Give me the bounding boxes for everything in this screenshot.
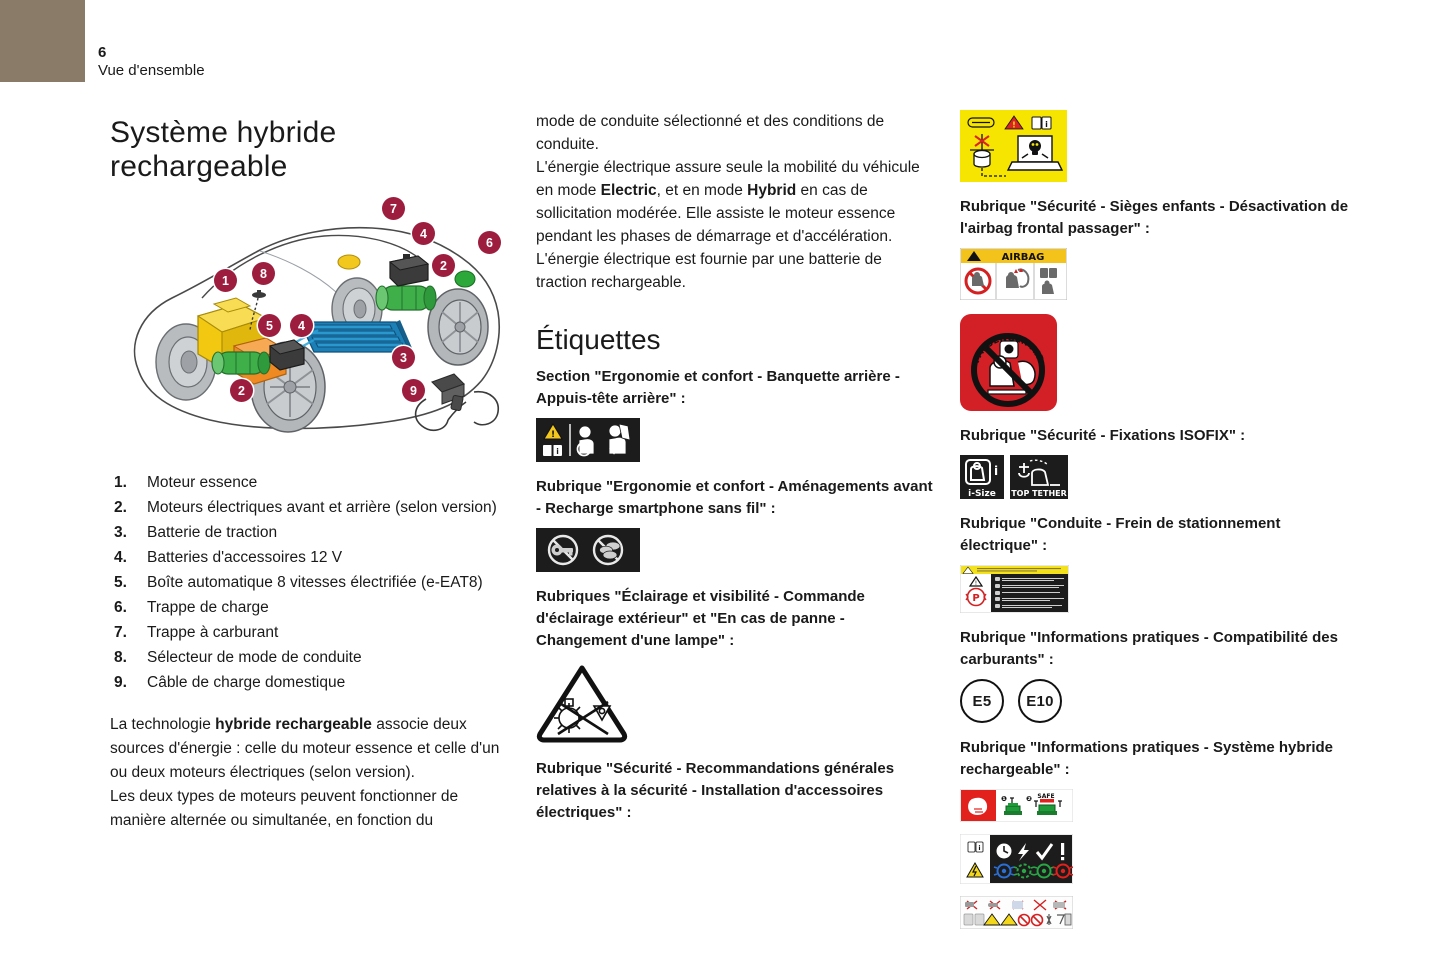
airbag-strip-label: AIRBAG [960, 248, 1067, 300]
svg-text:i: i [994, 464, 998, 478]
diagram-callout-2-front: 2 [230, 379, 253, 402]
list-item-label: Moteur essence [147, 474, 257, 491]
caption-headrest: Section "Ergonomie et confort - Banquett… [536, 366, 936, 410]
high-voltage-indicator-label: i [960, 834, 1073, 884]
plug-in-hybrid-cutaway-diagram: 7 4 6 2 1 8 5 4 2 3 9 [110, 194, 510, 454]
diagram-callout-9: 9 [402, 379, 425, 402]
lamp-uv-warning-triangle-label [536, 660, 632, 744]
list-item-number: 9. [114, 670, 127, 695]
paragraph-continued-2: L'énergie électrique assure seule la mob… [536, 156, 936, 248]
diagram-callout-6: 6 [478, 231, 501, 254]
list-item-label: Batterie de traction [147, 524, 277, 541]
list-item-number: 8. [114, 645, 127, 670]
list-item: 4.Batteries d'accessoires 12 V [110, 545, 510, 570]
list-item: 6.Trappe de charge [110, 595, 510, 620]
svg-text:!: ! [551, 430, 555, 440]
corner-color-band [0, 0, 85, 82]
paragraph-text-b: , et en mode [657, 182, 747, 199]
list-item-number: 4. [114, 545, 127, 570]
list-item-label: Sélecteur de mode de conduite [147, 649, 362, 666]
headrest-warning-label: ! i [536, 418, 640, 462]
fuel-e5-badge: E5 [960, 679, 1004, 723]
page-section-title: Vue d'ensemble [98, 61, 205, 81]
diagram-callout-5: 5 [258, 314, 281, 337]
electric-parking-brake-label: ! P [960, 565, 1069, 613]
mode-electric-term: Electric [601, 182, 657, 199]
component-list: 1.Moteur essence 2.Moteurs électriques a… [110, 470, 510, 695]
no-key-no-coins-label [536, 528, 640, 572]
list-item-label: Câble de charge domestique [147, 674, 345, 691]
list-item-number: 7. [114, 620, 127, 645]
hybrid-rescue-sticker: ❶ ❷ SAFE [960, 789, 1073, 822]
diagram-callout-8: 8 [252, 262, 275, 285]
caption-parking-brake: Rubrique "Conduite - Frein de stationnem… [960, 513, 1360, 557]
page-number: 6 [98, 44, 205, 61]
middle-column: mode de conduite sélectionné et des cond… [536, 110, 936, 832]
isofix-label-row: i i-Size TOP TETHER [960, 455, 1360, 499]
svg-text:❶: ❶ [1001, 795, 1007, 803]
list-item: 7.Trappe à carburant [110, 620, 510, 645]
list-item-label: Moteurs électriques avant et arrière (se… [147, 499, 497, 516]
paragraph-continued-3: L'énergie électrique est fournie par une… [536, 248, 936, 294]
svg-text:i: i [1045, 120, 1048, 129]
top-tether-label: TOP TETHER [1010, 455, 1068, 499]
airbag-strip-text: AIRBAG [1002, 252, 1045, 263]
fuel-compatibility-row: E5 E10 [960, 679, 1360, 723]
page-header: 6 Vue d'ensemble [98, 44, 205, 81]
i-size-label: i i-Size [960, 455, 1004, 499]
paragraph-continued-1: mode de conduite sélectionné et des cond… [536, 110, 936, 156]
yellow-airbag-child-seat-label: ! i [960, 110, 1067, 182]
intro-paragraphs: La technologie hybride rechargeable asso… [110, 713, 510, 833]
safe-text: SAFE [1037, 793, 1054, 800]
diagram-callout-7: 7 [382, 197, 405, 220]
diagram-callout-4-front: 4 [290, 314, 313, 337]
svg-text:!: ! [975, 580, 977, 587]
i-size-text: i-Size [968, 489, 996, 499]
list-item: 8.Sélecteur de mode de conduite [110, 645, 510, 670]
list-item-label: Trappe à carburant [147, 624, 278, 641]
list-item-number: 1. [114, 470, 127, 495]
paragraph-motor-types: Les deux types de moteurs peuvent foncti… [110, 785, 510, 833]
svg-text:i: i [556, 447, 559, 456]
caption-wireless-charging: Rubrique "Ergonomie et confort - Aménage… [536, 476, 936, 520]
passenger-airbag-prohibition-label: PASSENGER AIRBAG [960, 314, 1057, 411]
list-item-label: Trappe de charge [147, 599, 269, 616]
paragraph-bold-term: hybride rechargeable [215, 716, 372, 733]
list-item-label: Batteries d'accessoires 12 V [147, 549, 342, 566]
misc-prohibition-pictogram-strip [960, 896, 1073, 929]
list-item-number: 2. [114, 495, 127, 520]
diagram-callout-2-rear: 2 [432, 254, 455, 277]
svg-text:P: P [972, 593, 979, 604]
list-item-number: 5. [114, 570, 127, 595]
list-item-number: 6. [114, 595, 127, 620]
caption-electrical-accessories: Rubrique "Sécurité - Recommandations gén… [536, 758, 936, 824]
etiquettes-heading: Étiquettes [536, 324, 936, 356]
svg-text:❷: ❷ [1026, 795, 1032, 803]
top-tether-text: TOP TETHER [1011, 489, 1067, 498]
list-item: 5.Boîte automatique 8 vitesses électrifi… [110, 570, 510, 595]
list-item: 3.Batterie de traction [110, 520, 510, 545]
list-item: 2.Moteurs électriques avant et arrière (… [110, 495, 510, 520]
paragraph-technology: La technologie hybride rechargeable asso… [110, 713, 510, 785]
mode-hybrid-term: Hybrid [747, 182, 796, 199]
diagram-callout-1: 1 [214, 269, 237, 292]
list-item-label: Boîte automatique 8 vitesses électrifiée… [147, 574, 483, 591]
diagram-callout-3: 3 [392, 346, 415, 369]
list-item-number: 3. [114, 520, 127, 545]
caption-isofix: Rubrique "Sécurité - Fixations ISOFIX" : [960, 425, 1360, 447]
left-column: Système hybride rechargeable [110, 110, 510, 833]
right-column: ! i [960, 110, 1360, 929]
svg-text:i: i [978, 844, 980, 852]
caption-lighting: Rubriques "Éclairage et visibilité - Com… [536, 586, 936, 652]
paragraph-text-pre: La technologie [110, 716, 215, 733]
list-item: 9.Câble de charge domestique [110, 670, 510, 695]
list-item: 1.Moteur essence [110, 470, 510, 495]
page-title: Système hybride rechargeable [110, 116, 510, 184]
caption-hybrid-system: Rubrique "Informations pratiques - Systè… [960, 737, 1360, 781]
caption-airbag-deactivation: Rubrique "Sécurité - Sièges enfants - Dé… [960, 196, 1360, 240]
fuel-e10-badge: E10 [1018, 679, 1062, 723]
diagram-callout-4-rear: 4 [412, 222, 435, 245]
caption-fuel-compatibility: Rubrique "Informations pratiques - Compa… [960, 627, 1360, 671]
svg-text:!: ! [1012, 121, 1016, 130]
content-columns: Système hybride rechargeable [0, 110, 1445, 950]
